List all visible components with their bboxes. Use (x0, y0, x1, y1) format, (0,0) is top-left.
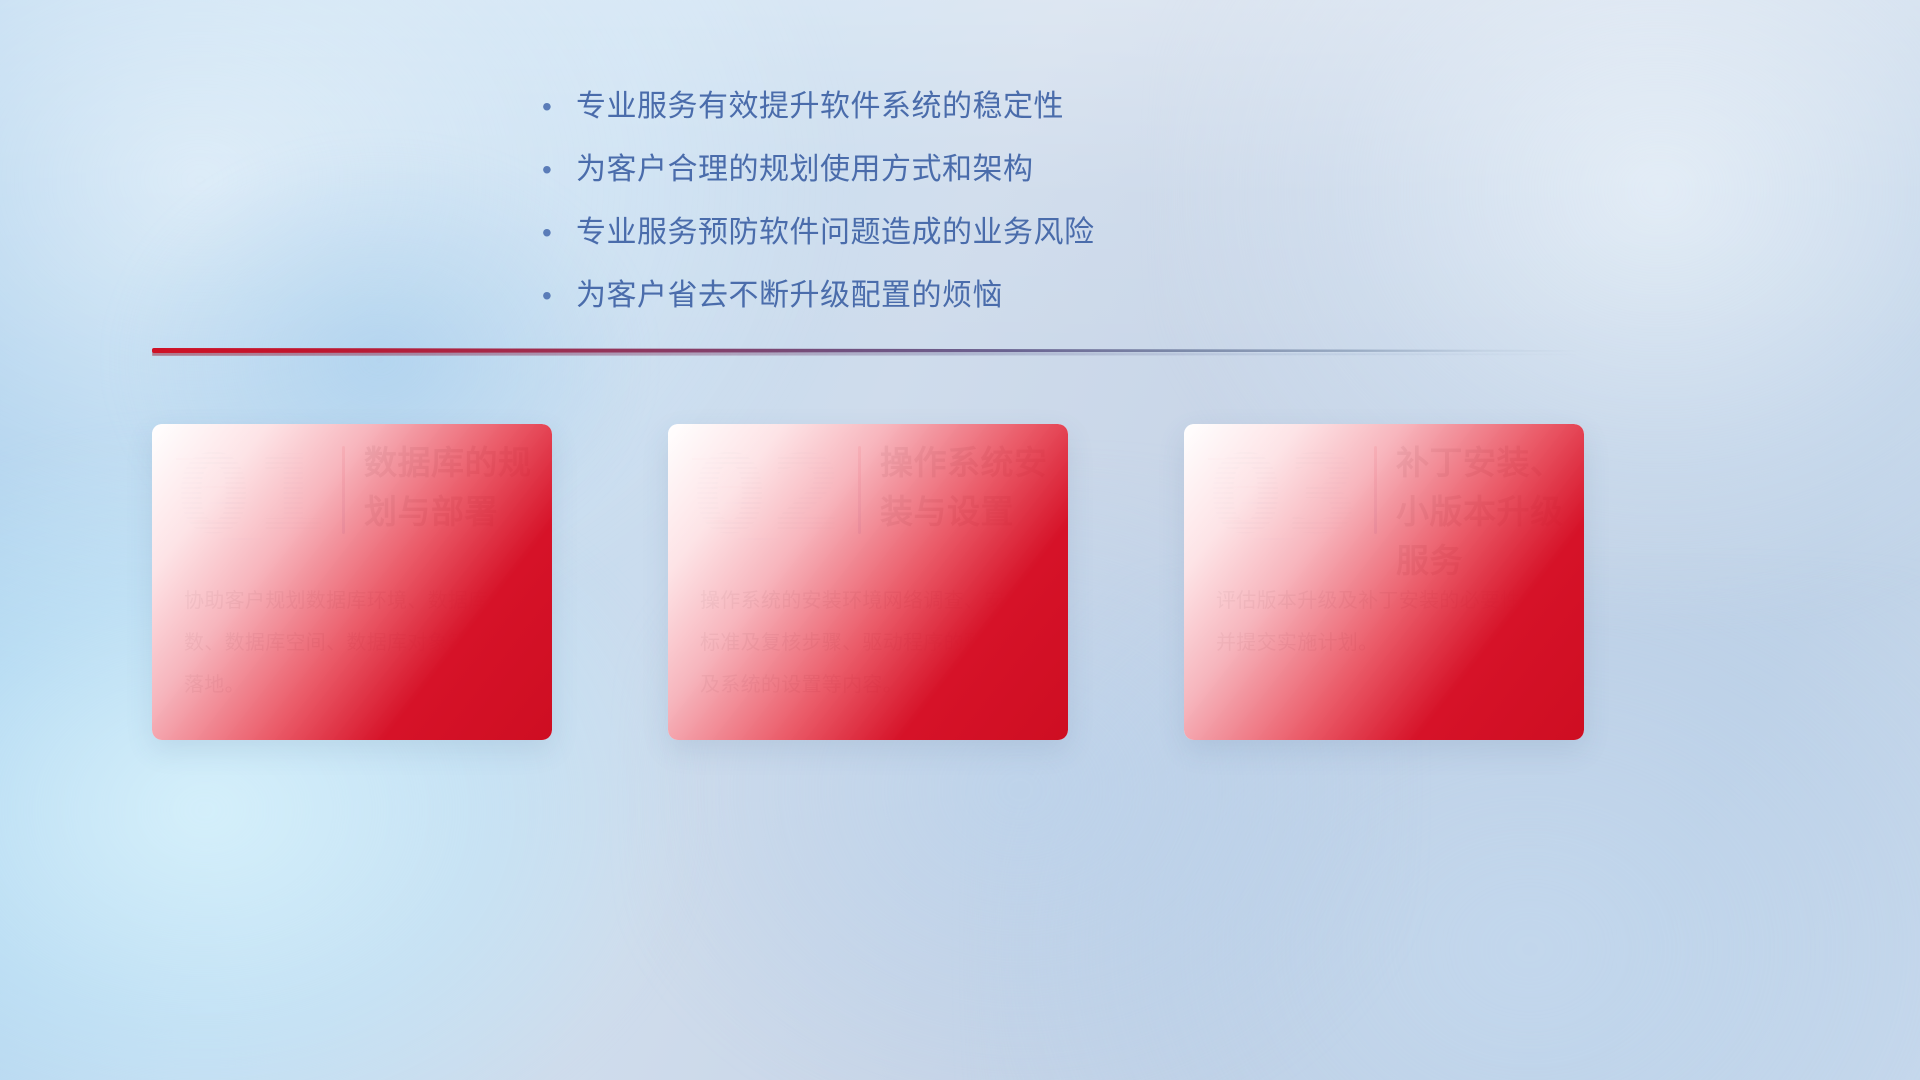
bullet-item: • 为客户合理的规划使用方式和架构 (536, 149, 1436, 191)
service-card[interactable]: 03 补丁安装、小版本升级服务 评估版本升级及补丁安装的必要性，并提交实施计划。 (1184, 424, 1584, 740)
bullet-item-label: 为客户省去不断升级配置的烦恼 (576, 275, 1003, 317)
bullet-item: • 专业服务有效提升软件系统的稳定性 (536, 86, 1436, 128)
card-title-accent-bar (342, 446, 345, 534)
slide-root: • 专业服务有效提升软件系统的稳定性 • 为客户合理的规划使用方式和架构 • 专… (0, 0, 1920, 1080)
card-content: 01 数据库的规划与部署 协助客户规划数据库环境、数据库参数、数据库空间、数据库… (152, 424, 552, 740)
bullet-item-label: 专业服务有效提升软件系统的稳定性 (576, 86, 1064, 128)
card-content: 03 补丁安装、小版本升级服务 评估版本升级及补丁安装的必要性，并提交实施计划。 (1184, 424, 1584, 740)
card-number-watermark: 03 (1208, 442, 1358, 550)
bullet-list: • 专业服务有效提升软件系统的稳定性 • 为客户合理的规划使用方式和架构 • 专… (536, 86, 1436, 338)
card-body-text: 评估版本升级及补丁安装的必要性，并提交实施计划。 (1216, 580, 1558, 664)
service-card[interactable]: 02 操作系统安装与设置 操作系统的安装环境网络调查、安装标准及复核步骤、驱动程… (668, 424, 1068, 740)
card-title: 补丁安装、小版本升级服务 (1396, 438, 1570, 585)
bullet-item-label: 专业服务预防软件问题造成的业务风险 (576, 212, 1095, 254)
bullet-item: • 为客户省去不断升级配置的烦恼 (536, 275, 1436, 317)
bullet-marker-icon: • (536, 212, 576, 254)
bullet-item-label: 为客户合理的规划使用方式和架构 (576, 149, 1034, 191)
section-divider (152, 342, 1584, 364)
bullet-marker-icon: • (536, 275, 576, 317)
bullet-marker-icon: • (536, 86, 576, 128)
card-title: 操作系统安装与设置 (880, 438, 1054, 536)
card-header: 01 数据库的规划与部署 (152, 424, 552, 554)
card-body-text: 操作系统的安装环境网络调查、安装标准及复核步骤、驱动程序的配置以及系统的设置等内… (700, 580, 1042, 706)
card-content: 02 操作系统安装与设置 操作系统的安装环境网络调查、安装标准及复核步骤、驱动程… (668, 424, 1068, 740)
card-number-watermark: 02 (692, 442, 842, 550)
card-title-accent-bar (858, 446, 861, 534)
bullet-item: • 专业服务预防软件问题造成的业务风险 (536, 212, 1436, 254)
card-title-accent-bar (1374, 446, 1377, 534)
card-header: 02 操作系统安装与设置 (668, 424, 1068, 554)
service-card[interactable]: 01 数据库的规划与部署 协助客户规划数据库环境、数据库参数、数据库空间、数据库… (152, 424, 552, 740)
card-title: 数据库的规划与部署 (364, 438, 538, 536)
card-header: 03 补丁安装、小版本升级服务 (1184, 424, 1584, 554)
divider-accent-line (152, 348, 1584, 353)
card-body-text: 协助客户规划数据库环境、数据库参数、数据库空间、数据库对象等部署落地。 (184, 580, 526, 706)
card-number-watermark: 01 (176, 442, 326, 550)
card-row: 01 数据库的规划与部署 协助客户规划数据库环境、数据库参数、数据库空间、数据库… (152, 424, 1584, 740)
bullet-marker-icon: • (536, 149, 576, 191)
